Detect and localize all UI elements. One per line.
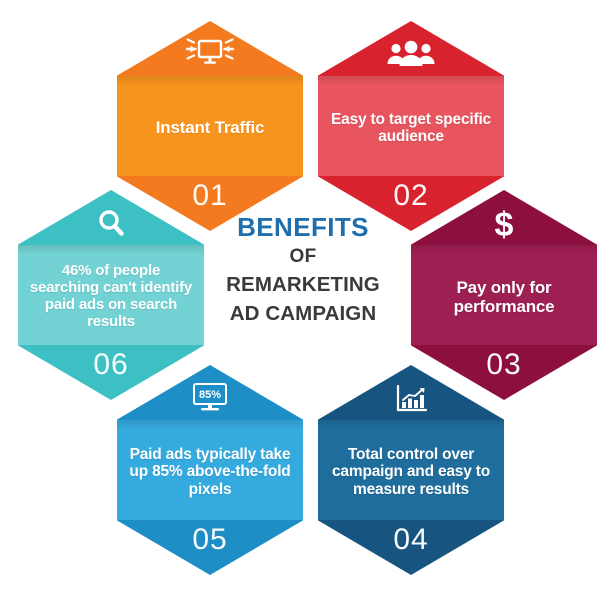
hexagon-band-05 — [117, 420, 303, 521]
hexagon-shape-04 — [318, 365, 504, 575]
center-title-block: BENEFITS OF REMARKETING AD CAMPAIGN — [196, 212, 410, 328]
hexagon-shape-06 — [18, 190, 204, 400]
hexagon-band-06 — [18, 245, 204, 346]
hexagon-card-06[interactable]: 46% of people searching can't identify p… — [18, 190, 204, 400]
hexagon-band-03 — [411, 245, 597, 346]
hexagon-card-04[interactable]: Total control over campaign and easy to … — [318, 365, 504, 575]
hexagon-band-04 — [318, 420, 504, 521]
title-line-of: OF — [196, 243, 410, 271]
title-line-remarketing: REMARKETING — [196, 270, 410, 299]
title-line-ad-campaign: AD CAMPAIGN — [196, 299, 410, 328]
title-line-benefits: BENEFITS — [196, 212, 410, 243]
hexagon-band-02 — [318, 76, 504, 177]
infographic-canvas: Instant Traffic 01 Easy to target speci — [0, 0, 600, 600]
hexagon-band-01 — [117, 76, 303, 177]
